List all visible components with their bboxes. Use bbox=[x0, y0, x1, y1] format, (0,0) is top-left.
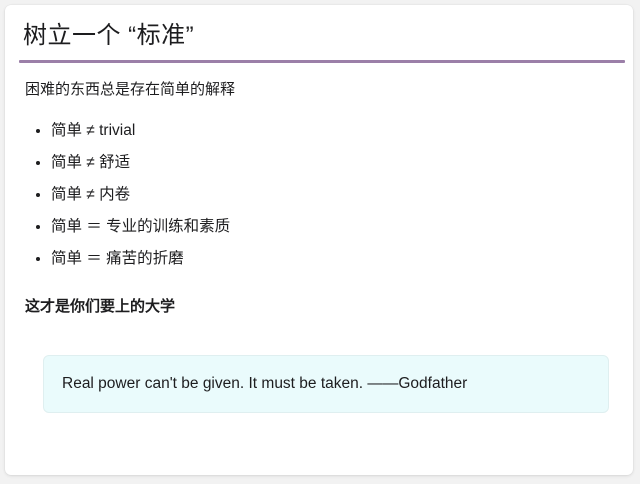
list-item-label: 简单 ≠ trivial bbox=[51, 122, 135, 139]
bullet-dot-icon bbox=[36, 161, 40, 165]
list-item-label: 简单 ≠ 内卷 bbox=[51, 186, 130, 203]
slide-card: 树立一个 “标准” 困难的东西总是存在简单的解释 简单 ≠ trivial 简单… bbox=[5, 5, 633, 475]
list-item: 简单 ≠ trivial bbox=[25, 115, 230, 147]
list-item: 简单 ＝ 痛苦的折磨 bbox=[25, 243, 230, 275]
quote-text: Real power can't be given. It must be ta… bbox=[44, 373, 467, 395]
title-divider bbox=[19, 60, 625, 63]
bullet-list: 简单 ≠ trivial 简单 ≠ 舒适 简单 ≠ 内卷 简单 ＝ 专业的训练和… bbox=[25, 115, 230, 275]
lead-paragraph: 困难的东西总是存在简单的解释 bbox=[25, 78, 235, 102]
quote-callout: Real power can't be given. It must be ta… bbox=[43, 355, 609, 413]
list-item: 简单 ≠ 舒适 bbox=[25, 147, 230, 179]
bullet-dot-icon bbox=[36, 129, 40, 133]
page-title: 树立一个 “标准” bbox=[23, 19, 194, 53]
bullet-dot-icon bbox=[36, 257, 40, 261]
list-item-label: 简单 ≠ 舒适 bbox=[51, 154, 130, 171]
bullet-dot-icon bbox=[36, 193, 40, 197]
list-item-label: 简单 ＝ 专业的训练和素质 bbox=[51, 218, 230, 235]
emphasis-line: 这才是你们要上的大学 bbox=[25, 295, 175, 319]
list-item: 简单 ≠ 内卷 bbox=[25, 179, 230, 211]
list-item-label: 简单 ＝ 痛苦的折磨 bbox=[51, 250, 184, 267]
list-item: 简单 ＝ 专业的训练和素质 bbox=[25, 211, 230, 243]
bullet-dot-icon bbox=[36, 225, 40, 229]
